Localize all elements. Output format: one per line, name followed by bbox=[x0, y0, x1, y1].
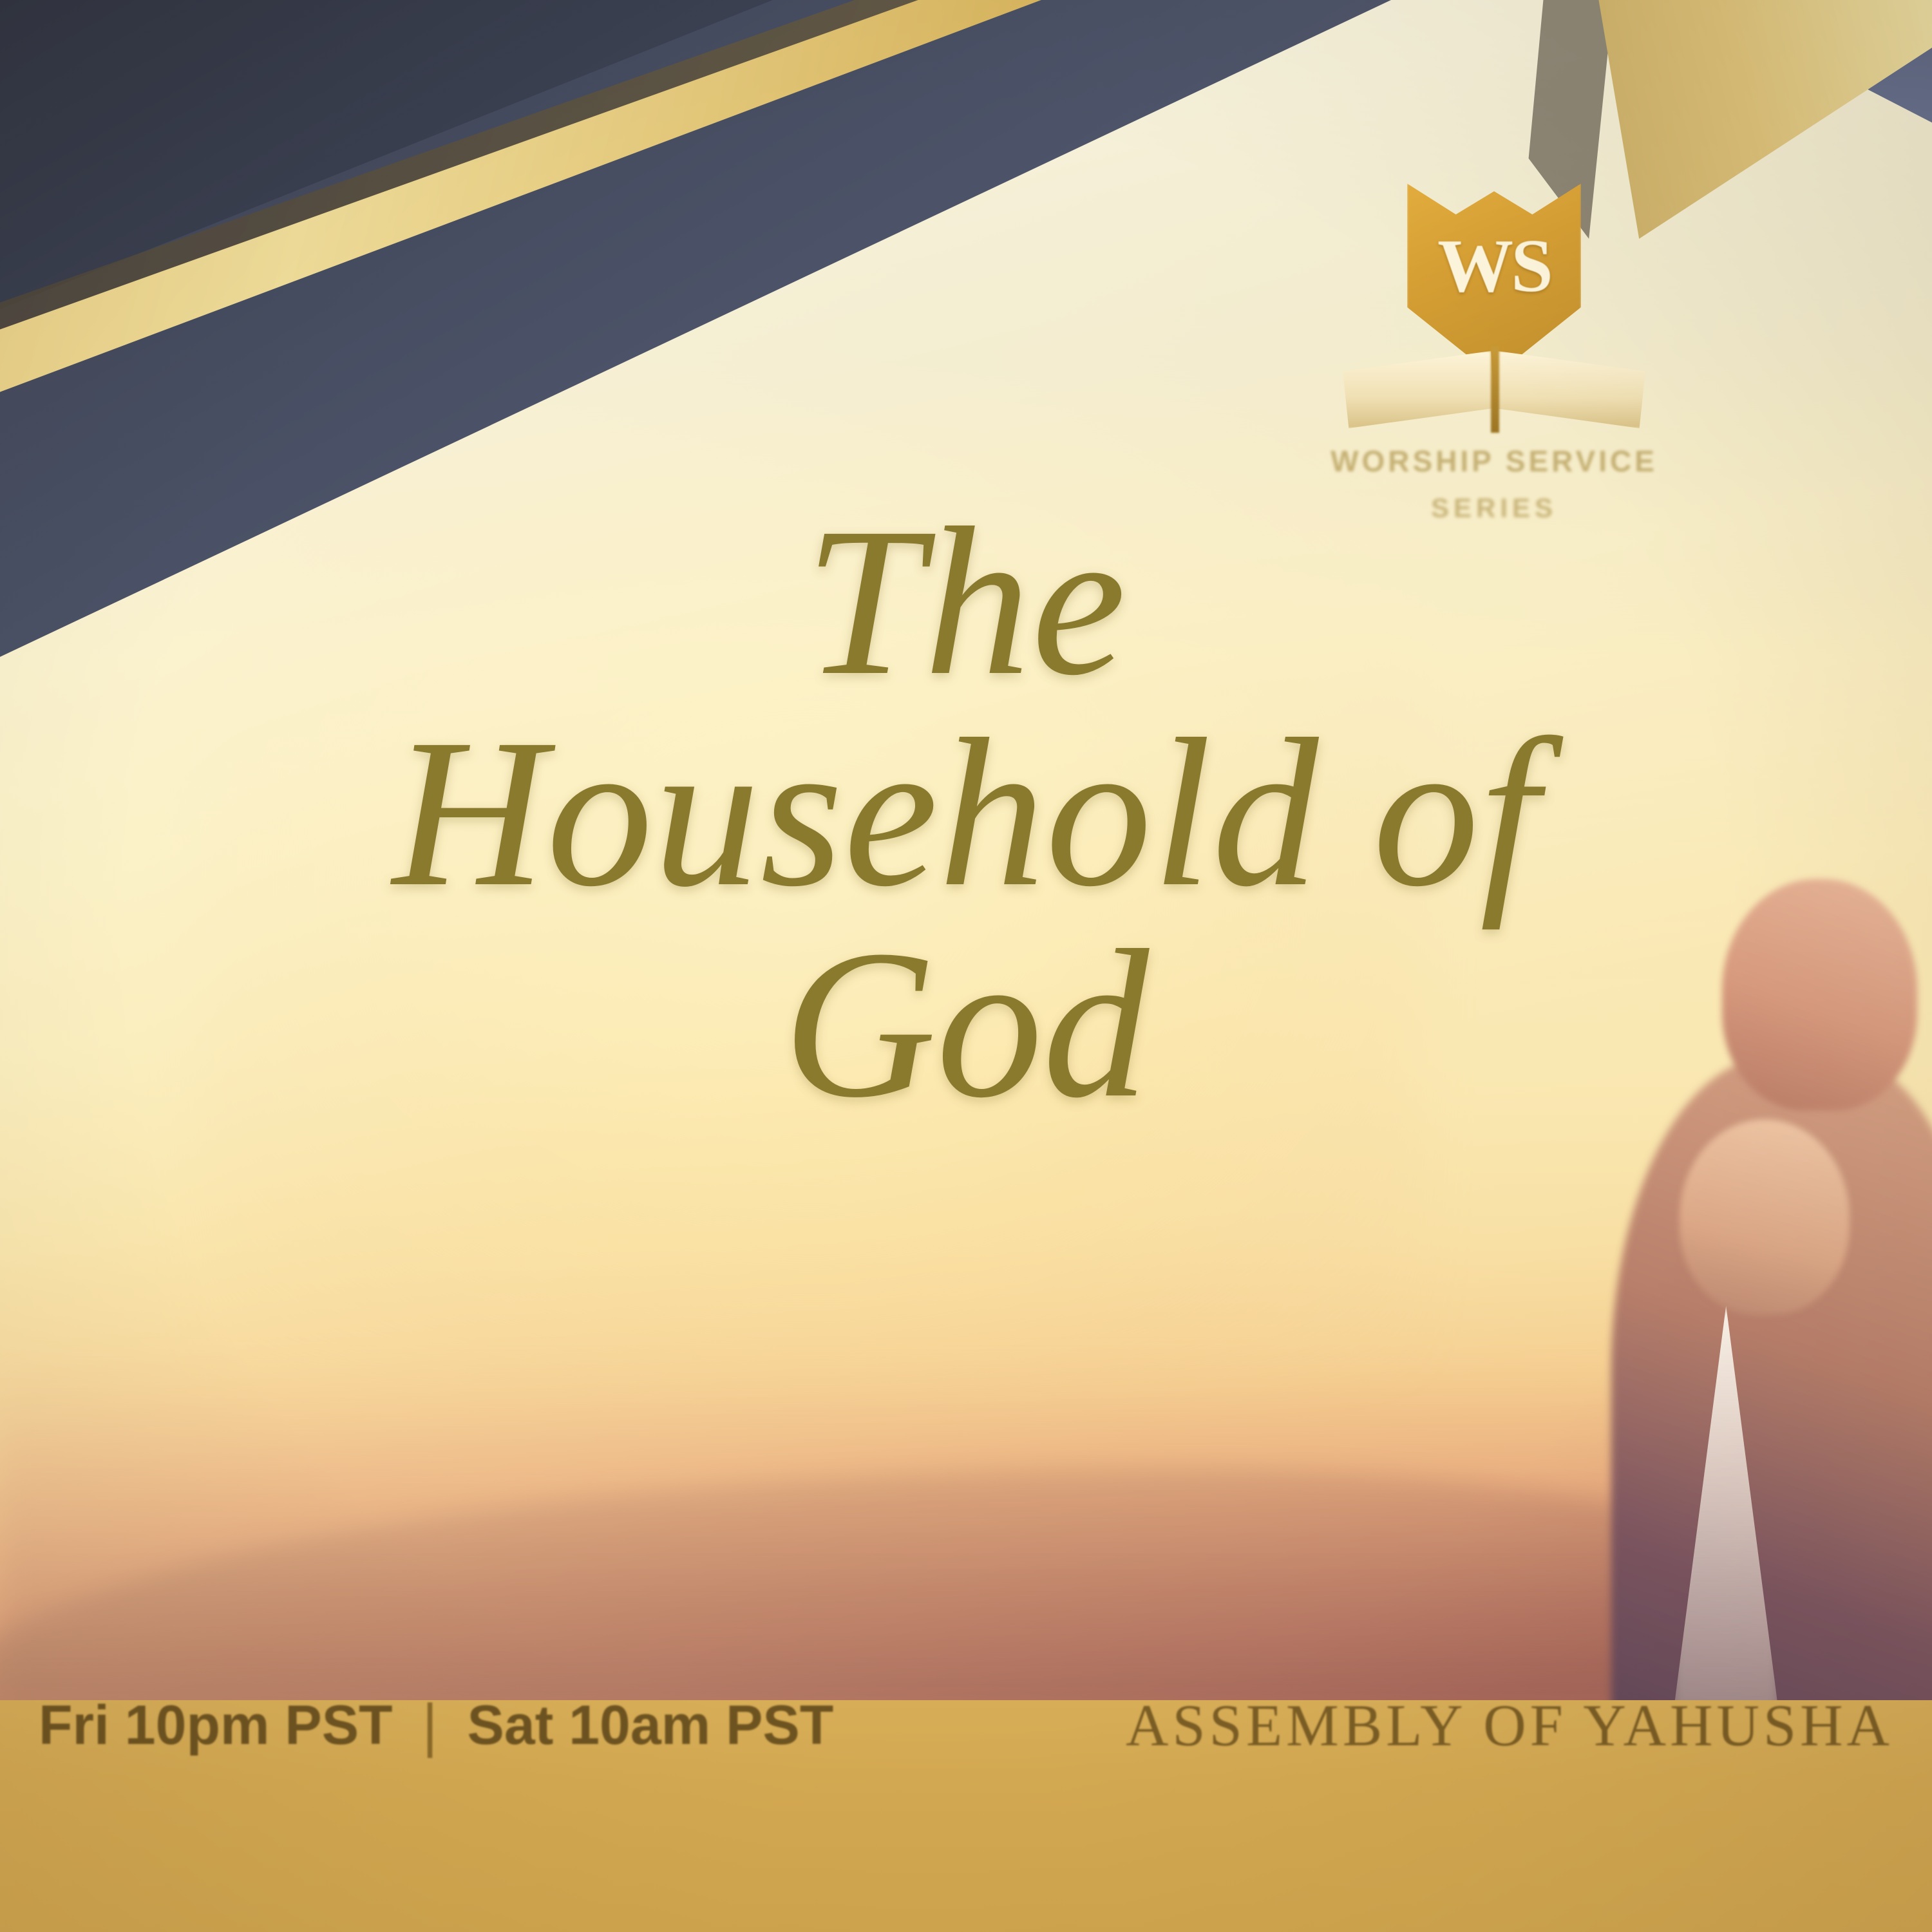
monogram-text: WS bbox=[1407, 222, 1581, 310]
book-spine bbox=[1491, 346, 1499, 433]
schedule-separator: | bbox=[422, 1692, 438, 1759]
schedule-friday: Fri 10pm PST bbox=[39, 1694, 393, 1757]
title-line-1: The bbox=[805, 484, 1128, 719]
book-page-right bbox=[1494, 351, 1645, 428]
logo-tagline-primary: WORSHIP SERVICE bbox=[1314, 444, 1674, 478]
figure-hands bbox=[1680, 1119, 1850, 1315]
title-line-2: Household of bbox=[0, 714, 1932, 913]
footer-bar-content: Fri 10pm PST | Sat 10am PST ASSEMBLY OF … bbox=[0, 1691, 1932, 1759]
book-page-left bbox=[1343, 351, 1494, 428]
poster-canvas: WS WORSHIP SERVICE SERIES The Household … bbox=[0, 0, 1932, 1932]
organization-name: ASSEMBLY OF YAHUSHA bbox=[1126, 1691, 1893, 1759]
title-line-3: God bbox=[0, 925, 1932, 1124]
footer-bar: Fri 10pm PST | Sat 10am PST ASSEMBLY OF … bbox=[0, 1700, 1932, 1932]
service-schedule: Fri 10pm PST | Sat 10am PST bbox=[39, 1692, 833, 1759]
schedule-saturday: Sat 10am PST bbox=[468, 1694, 834, 1757]
poster-title: The Household of God bbox=[0, 502, 1932, 1125]
open-book-icon bbox=[1343, 351, 1645, 428]
